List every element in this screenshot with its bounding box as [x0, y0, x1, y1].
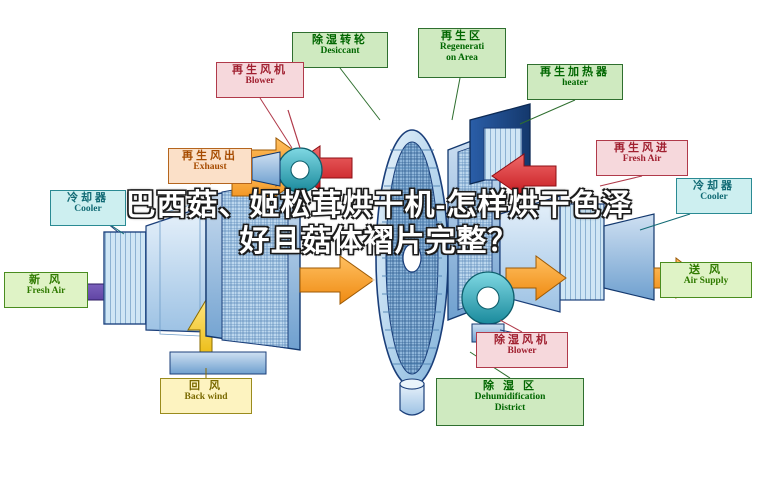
- label-desiccant-wheel-cn: 除湿转轮: [296, 34, 384, 46]
- label-cooler-right-cn: 冷却器: [680, 180, 748, 192]
- label-desiccant-wheel: 除湿转轮Desiccant: [292, 32, 388, 68]
- label-regeneration-area-cn: 再生区: [422, 30, 502, 42]
- label-air-supply: 送 风Air Supply: [660, 262, 752, 298]
- label-regeneration-heater-cn: 再生加热器: [531, 66, 619, 78]
- label-fresh-air-en: Fresh Air: [8, 286, 84, 297]
- dehumidifier-schematic-svg: [0, 0, 757, 488]
- label-regeneration-inlet-en: Fresh Air: [600, 154, 684, 165]
- label-dehumidify-blower-en: Blower: [480, 346, 564, 357]
- label-dehumidification-area-cn: 除 湿 区: [440, 380, 580, 392]
- label-regeneration-heater-en: heater: [531, 78, 619, 89]
- label-regeneration-blower-en: Blower: [220, 76, 300, 87]
- desiccant-wheel: [373, 130, 448, 415]
- label-cooler-left-cn: 冷却器: [54, 192, 122, 204]
- label-cooler-left: 冷却器Cooler: [50, 190, 126, 226]
- label-regeneration-exhaust-cn: 再生风出: [172, 150, 248, 162]
- label-cooler-right-en: Cooler: [680, 192, 748, 203]
- label-regeneration-blower-cn: 再生风机: [220, 64, 300, 76]
- label-air-supply-en: Air Supply: [664, 276, 748, 287]
- label-regeneration-inlet: 再生风进Fresh Air: [596, 140, 688, 176]
- label-regeneration-exhaust: 再生风出Exhaust: [168, 148, 252, 184]
- label-cooler-right: 冷却器Cooler: [676, 178, 752, 214]
- label-dehumidification-area-en: Dehumidification District: [440, 392, 580, 413]
- label-regeneration-area-en: Regenerati on Area: [422, 42, 502, 63]
- label-back-wind: 回 风Back wind: [160, 378, 252, 414]
- label-fresh-air-cn: 新 风: [8, 274, 84, 286]
- label-back-wind-cn: 回 风: [164, 380, 248, 392]
- label-regeneration-inlet-cn: 再生风进: [600, 142, 684, 154]
- label-cooler-left-en: Cooler: [54, 204, 122, 215]
- label-desiccant-wheel-en: Desiccant: [296, 46, 384, 57]
- label-regeneration-blower: 再生风机Blower: [216, 62, 304, 98]
- label-fresh-air: 新 风Fresh Air: [4, 272, 88, 308]
- label-regeneration-exhaust-en: Exhaust: [172, 162, 248, 173]
- label-air-supply-cn: 送 风: [664, 264, 748, 276]
- label-dehumidify-blower: 除湿风机Blower: [476, 332, 568, 368]
- label-dehumidification-area: 除 湿 区Dehumidification District: [436, 378, 584, 426]
- label-regeneration-heater: 再生加热器heater: [527, 64, 623, 100]
- diagram-canvas: 除湿转轮Desiccant再生区Regenerati on Area再生风机Bl…: [0, 0, 757, 488]
- label-regeneration-area: 再生区Regenerati on Area: [418, 28, 506, 78]
- label-dehumidify-blower-cn: 除湿风机: [480, 334, 564, 346]
- label-back-wind-en: Back wind: [164, 392, 248, 403]
